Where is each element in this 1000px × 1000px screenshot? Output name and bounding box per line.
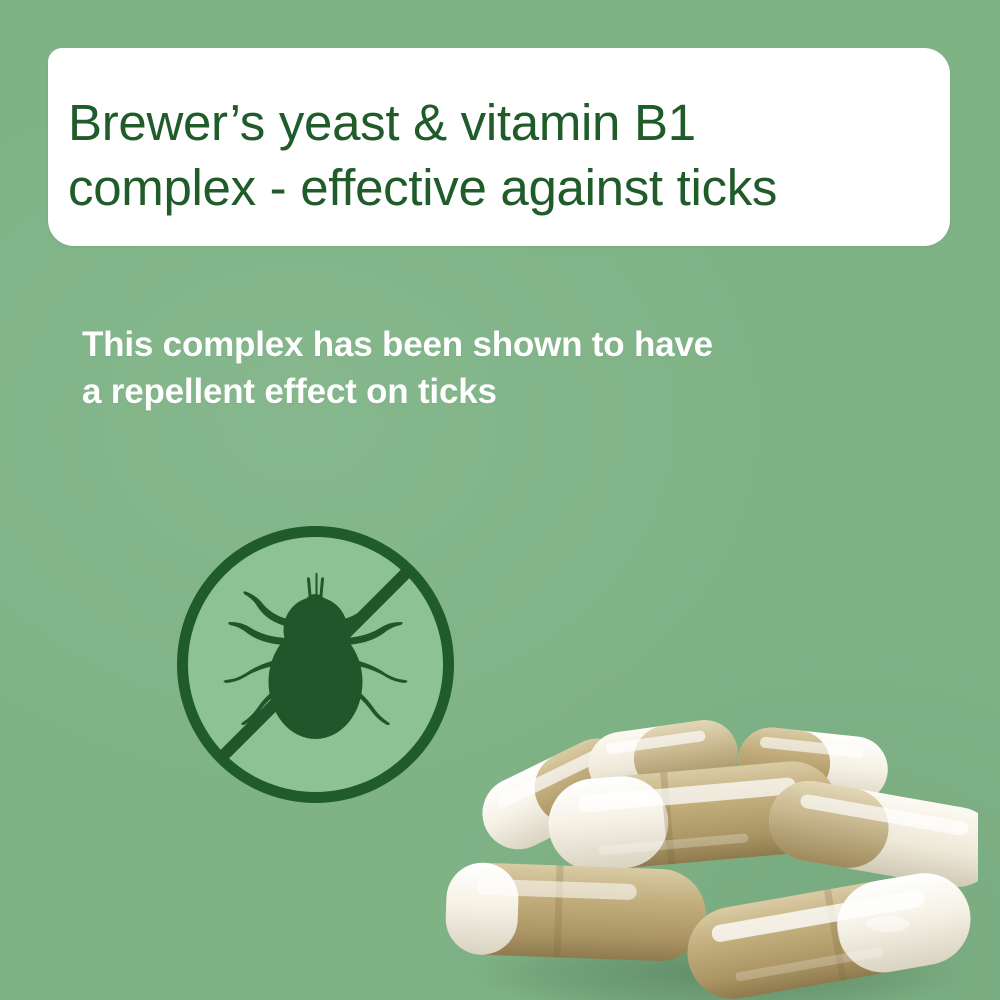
subtitle-text: This complex has been shown to have a re… bbox=[82, 322, 912, 416]
no-tick-badge bbox=[173, 522, 458, 807]
capsule-pile bbox=[418, 718, 978, 1000]
capsule-lower-left bbox=[444, 861, 707, 962]
capsule-highlight bbox=[600, 789, 652, 807]
poster-canvas: Brewer’s yeast & vitamin B1 complex - ef… bbox=[0, 0, 1000, 1000]
no-tick-icon bbox=[173, 522, 458, 807]
supplement-capsules-image bbox=[418, 718, 978, 1000]
headline-card: Brewer’s yeast & vitamin B1 complex - ef… bbox=[48, 48, 950, 246]
capsule-highlight bbox=[866, 916, 910, 932]
capsule-right-edge bbox=[763, 775, 978, 894]
page-title: Brewer’s yeast & vitamin B1 complex - ef… bbox=[68, 90, 936, 221]
